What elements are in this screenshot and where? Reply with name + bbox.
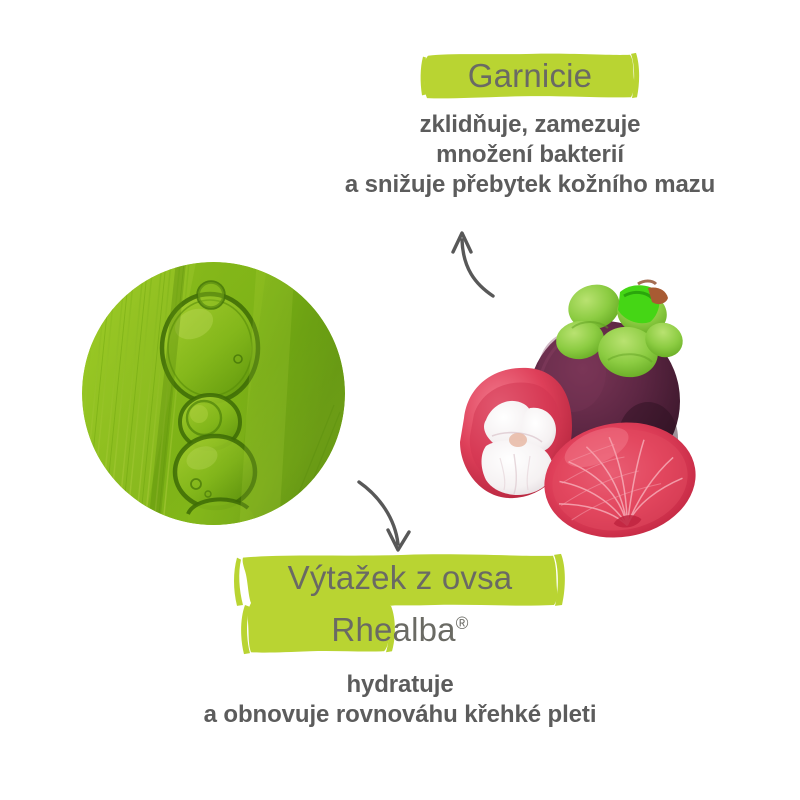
oat-title-line-2: Rhealba bbox=[331, 611, 455, 648]
arrow-up-to-garcinia bbox=[425, 218, 530, 323]
registered-trademark-icon: ® bbox=[456, 613, 469, 633]
infographic-canvas: Garnicie zklidňuje, zamezuje množení bak… bbox=[0, 0, 800, 800]
oat-title: Výtažek z ovsaRhealba® bbox=[145, 552, 655, 656]
garcinia-title: Garnicie bbox=[300, 52, 760, 100]
ingredient-block-oat: Výtažek z ovsaRhealba® hydratuje a obnov… bbox=[145, 552, 655, 730]
oat-description: hydratuje a obnovuje rovnováhu křehké pl… bbox=[145, 670, 655, 730]
oat-title-highlight: Výtažek z ovsaRhealba® bbox=[145, 552, 655, 656]
garcinia-title-highlight: Garnicie bbox=[300, 52, 760, 100]
ingredient-block-garcinia: Garnicie zklidňuje, zamezuje množení bak… bbox=[300, 52, 760, 200]
oat-title-line-1: Výtažek z ovsa bbox=[288, 559, 513, 596]
oat-extract-bubbles-photo bbox=[82, 262, 345, 525]
garcinia-description: zklidňuje, zamezuje množení bakterií a s… bbox=[300, 110, 760, 200]
